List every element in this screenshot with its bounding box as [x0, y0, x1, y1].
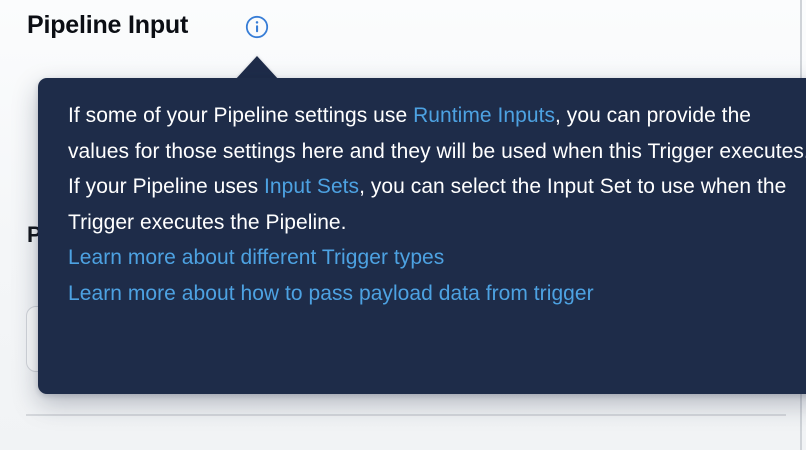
pipeline-input-tooltip: If some of your Pipeline settings use Ru… [38, 78, 806, 394]
paragraph-1-text-before: If some of your Pipeline settings use [68, 104, 413, 127]
tooltip-paragraph-2: If your Pipeline uses Input Sets, you ca… [68, 169, 806, 240]
tooltip-paragraph-1: If some of your Pipeline settings use Ru… [68, 98, 806, 169]
screen-root: Pipeline Input P If some of your Pipelin… [0, 0, 806, 450]
tooltip-body: If some of your Pipeline settings use Ru… [68, 98, 806, 311]
paragraph-2-text-before: If your Pipeline uses [68, 175, 264, 198]
info-circle-icon[interactable] [245, 15, 269, 39]
learn-more-payload-data-link[interactable]: Learn more about how to pass payload dat… [68, 276, 806, 312]
tooltip-caret [235, 56, 279, 80]
input-sets-link[interactable]: Input Sets [264, 175, 359, 198]
section-divider [26, 414, 786, 416]
page-title: Pipeline Input [27, 11, 188, 40]
learn-more-trigger-types-link[interactable]: Learn more about different Trigger types [68, 240, 806, 276]
runtime-inputs-link[interactable]: Runtime Inputs [413, 104, 555, 127]
